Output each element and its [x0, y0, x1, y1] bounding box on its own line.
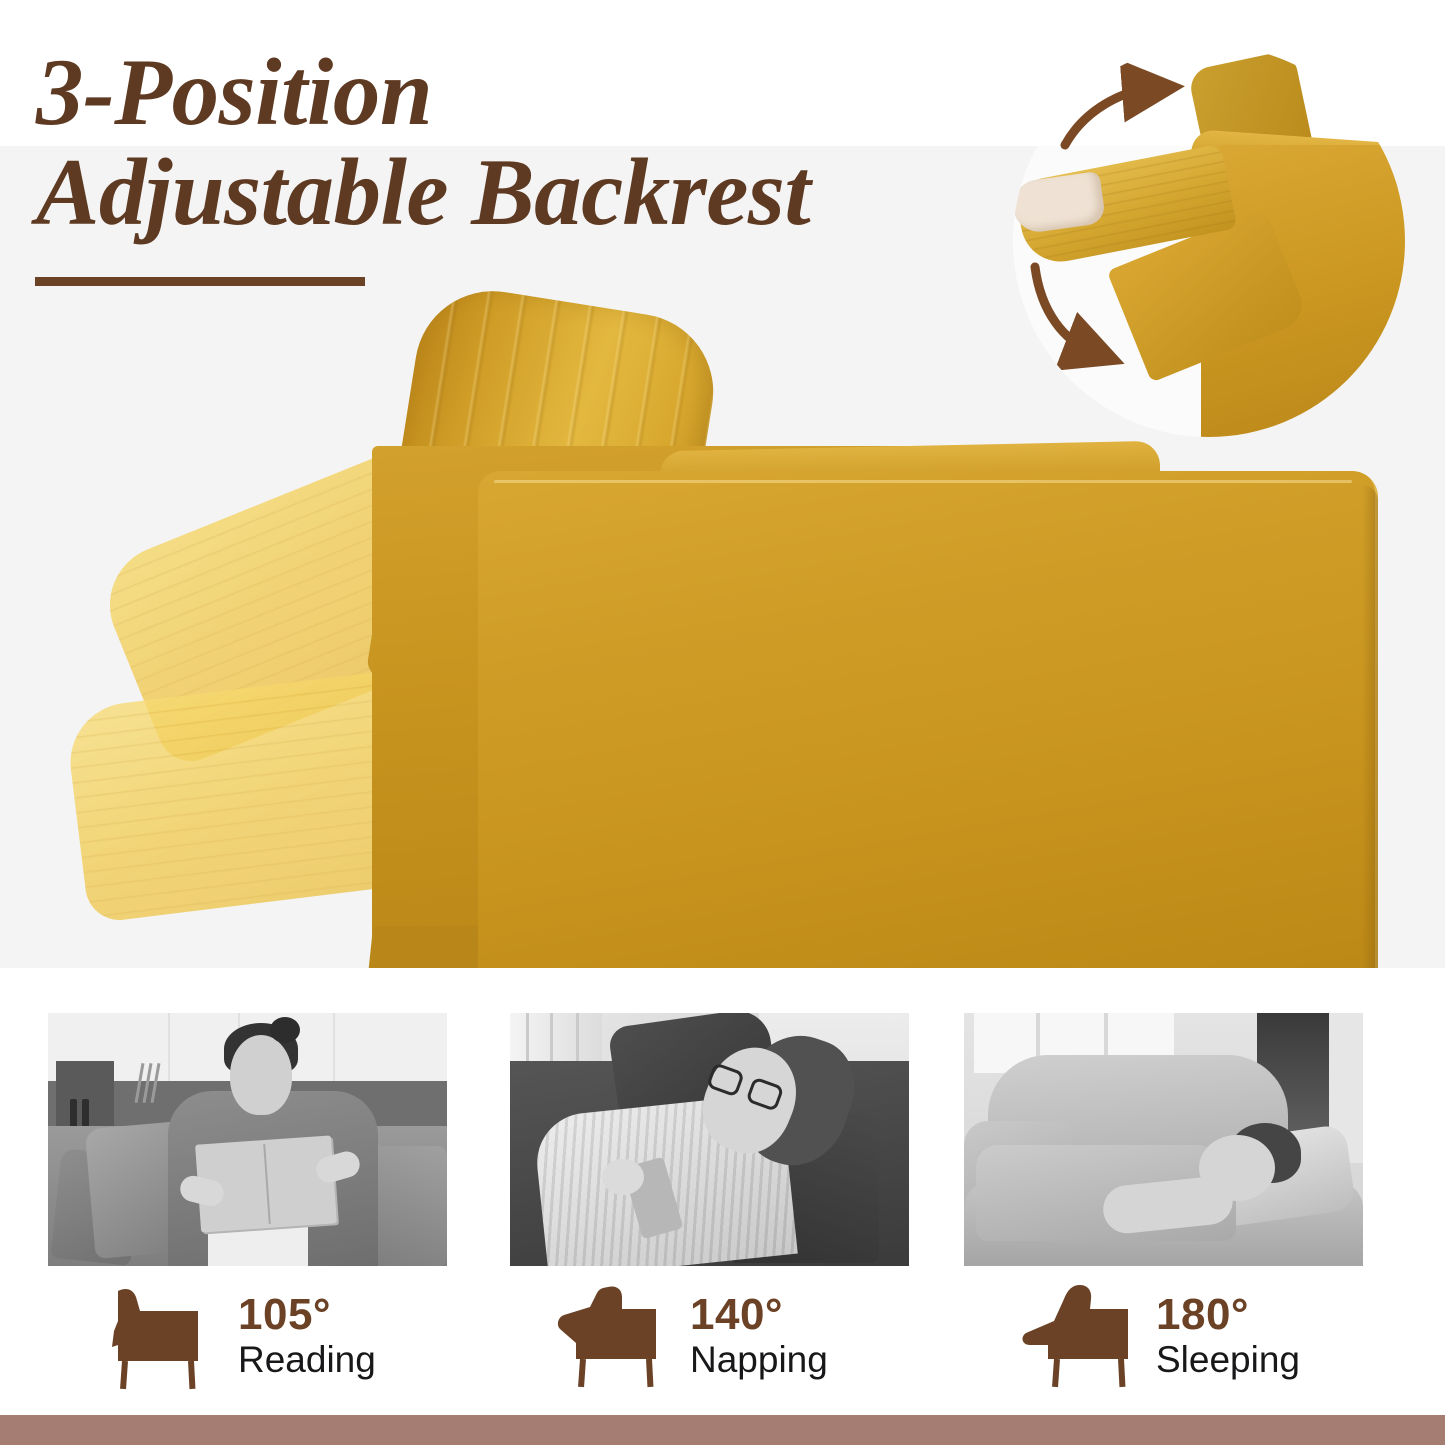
footer-accent-bar [0, 1415, 1445, 1445]
person-hand [602, 1159, 644, 1195]
mode-label: Napping [690, 1339, 828, 1382]
bottle [82, 1099, 89, 1127]
chair-side-arm-panel [478, 471, 1378, 968]
infographic-stage: 3-Position Adjustable Backrest [0, 0, 1445, 1445]
bottle [70, 1099, 77, 1127]
photo-card-napping [510, 1013, 909, 1266]
headline-line-1: 3-Position [36, 46, 996, 138]
position-text-sleeping: 180° Sleeping [1156, 1285, 1300, 1382]
person-head [230, 1035, 292, 1115]
angle-value: 180° [1156, 1293, 1300, 1337]
photo-napping [510, 1013, 909, 1266]
photo-sleeping [964, 1013, 1363, 1266]
position-text-napping: 140° Napping [690, 1285, 828, 1382]
mode-label: Sleeping [1156, 1339, 1300, 1382]
angle-value: 140° [690, 1293, 828, 1337]
angle-value: 105° [238, 1293, 376, 1337]
recline-direction-arrows [1013, 45, 1405, 437]
closeup-circle-inset [1013, 45, 1405, 437]
mode-label: Reading [238, 1339, 376, 1382]
position-item-sleeping: 180° Sleeping [1018, 1285, 1300, 1390]
side-panel-top-seam [494, 480, 1352, 483]
position-text-reading: 105° Reading [238, 1285, 376, 1382]
photo-card-sleeping [964, 1013, 1363, 1266]
position-item-napping: 140° Napping [552, 1285, 828, 1390]
recline-up-arrow [1065, 89, 1149, 145]
chair-upright-icon [100, 1285, 220, 1390]
position-item-reading: 105° Reading [100, 1285, 376, 1390]
recline-down-arrow [1035, 267, 1091, 351]
chair-flat-icon [1018, 1285, 1138, 1390]
lifestyle-photo-row [0, 1013, 1445, 1268]
position-labels-row: 105° Reading 140° Napping 180° [0, 1285, 1445, 1400]
chair-reclined-icon [552, 1285, 672, 1390]
knife-rack [136, 1063, 164, 1103]
photo-card-reading [48, 1013, 447, 1266]
photo-reading [48, 1013, 447, 1266]
person-hair-bun [270, 1017, 300, 1043]
